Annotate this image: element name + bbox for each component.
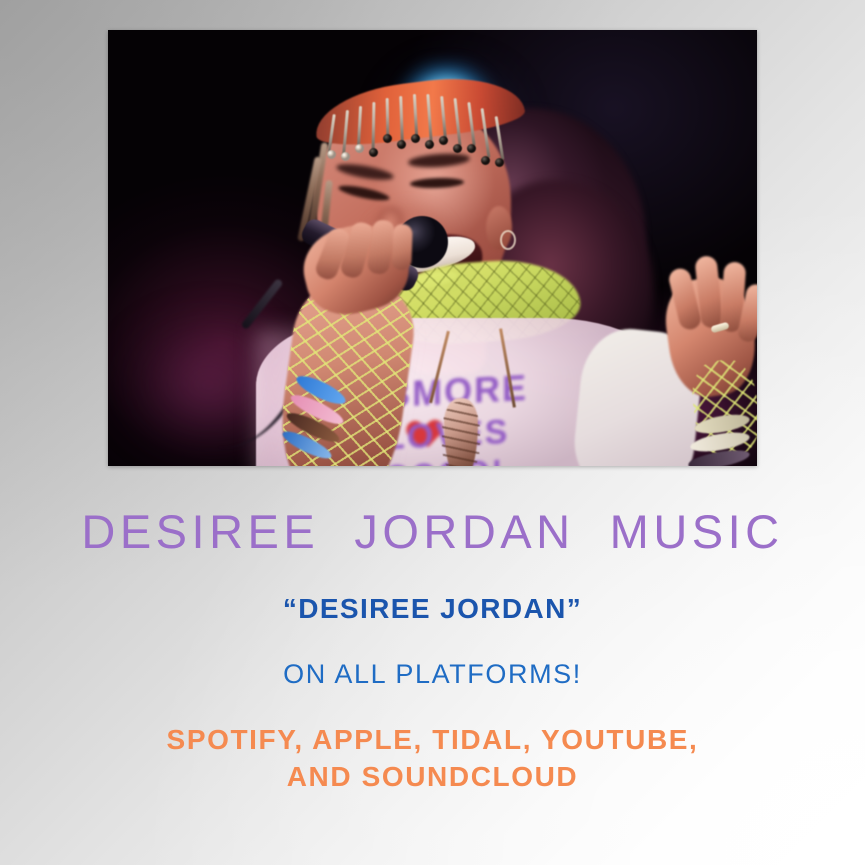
streaming-services-list: SPOTIFY, APPLE, TIDAL, YOUTUBE, AND SOUN… [0, 688, 865, 796]
shirt-print: BMORE LOVES GOGO! [376, 360, 600, 466]
necklace-pendant-wrap [442, 402, 480, 466]
performance-photo: BMORE LOVES GOGO! [108, 30, 757, 466]
earring [500, 230, 516, 250]
page-title: DESIREE JORDAN MUSIC [0, 490, 865, 555]
promo-poster: BMORE LOVES GOGO! [0, 0, 865, 865]
photo-stage: BMORE LOVES GOGO! [108, 30, 757, 466]
artist-name-quoted: “DESIREE JORDAN” [0, 555, 865, 623]
availability-line: ON ALL PLATFORMS! [0, 623, 865, 688]
poster-text-block: DESIREE JORDAN MUSIC “DESIREE JORDAN” ON… [0, 490, 865, 796]
